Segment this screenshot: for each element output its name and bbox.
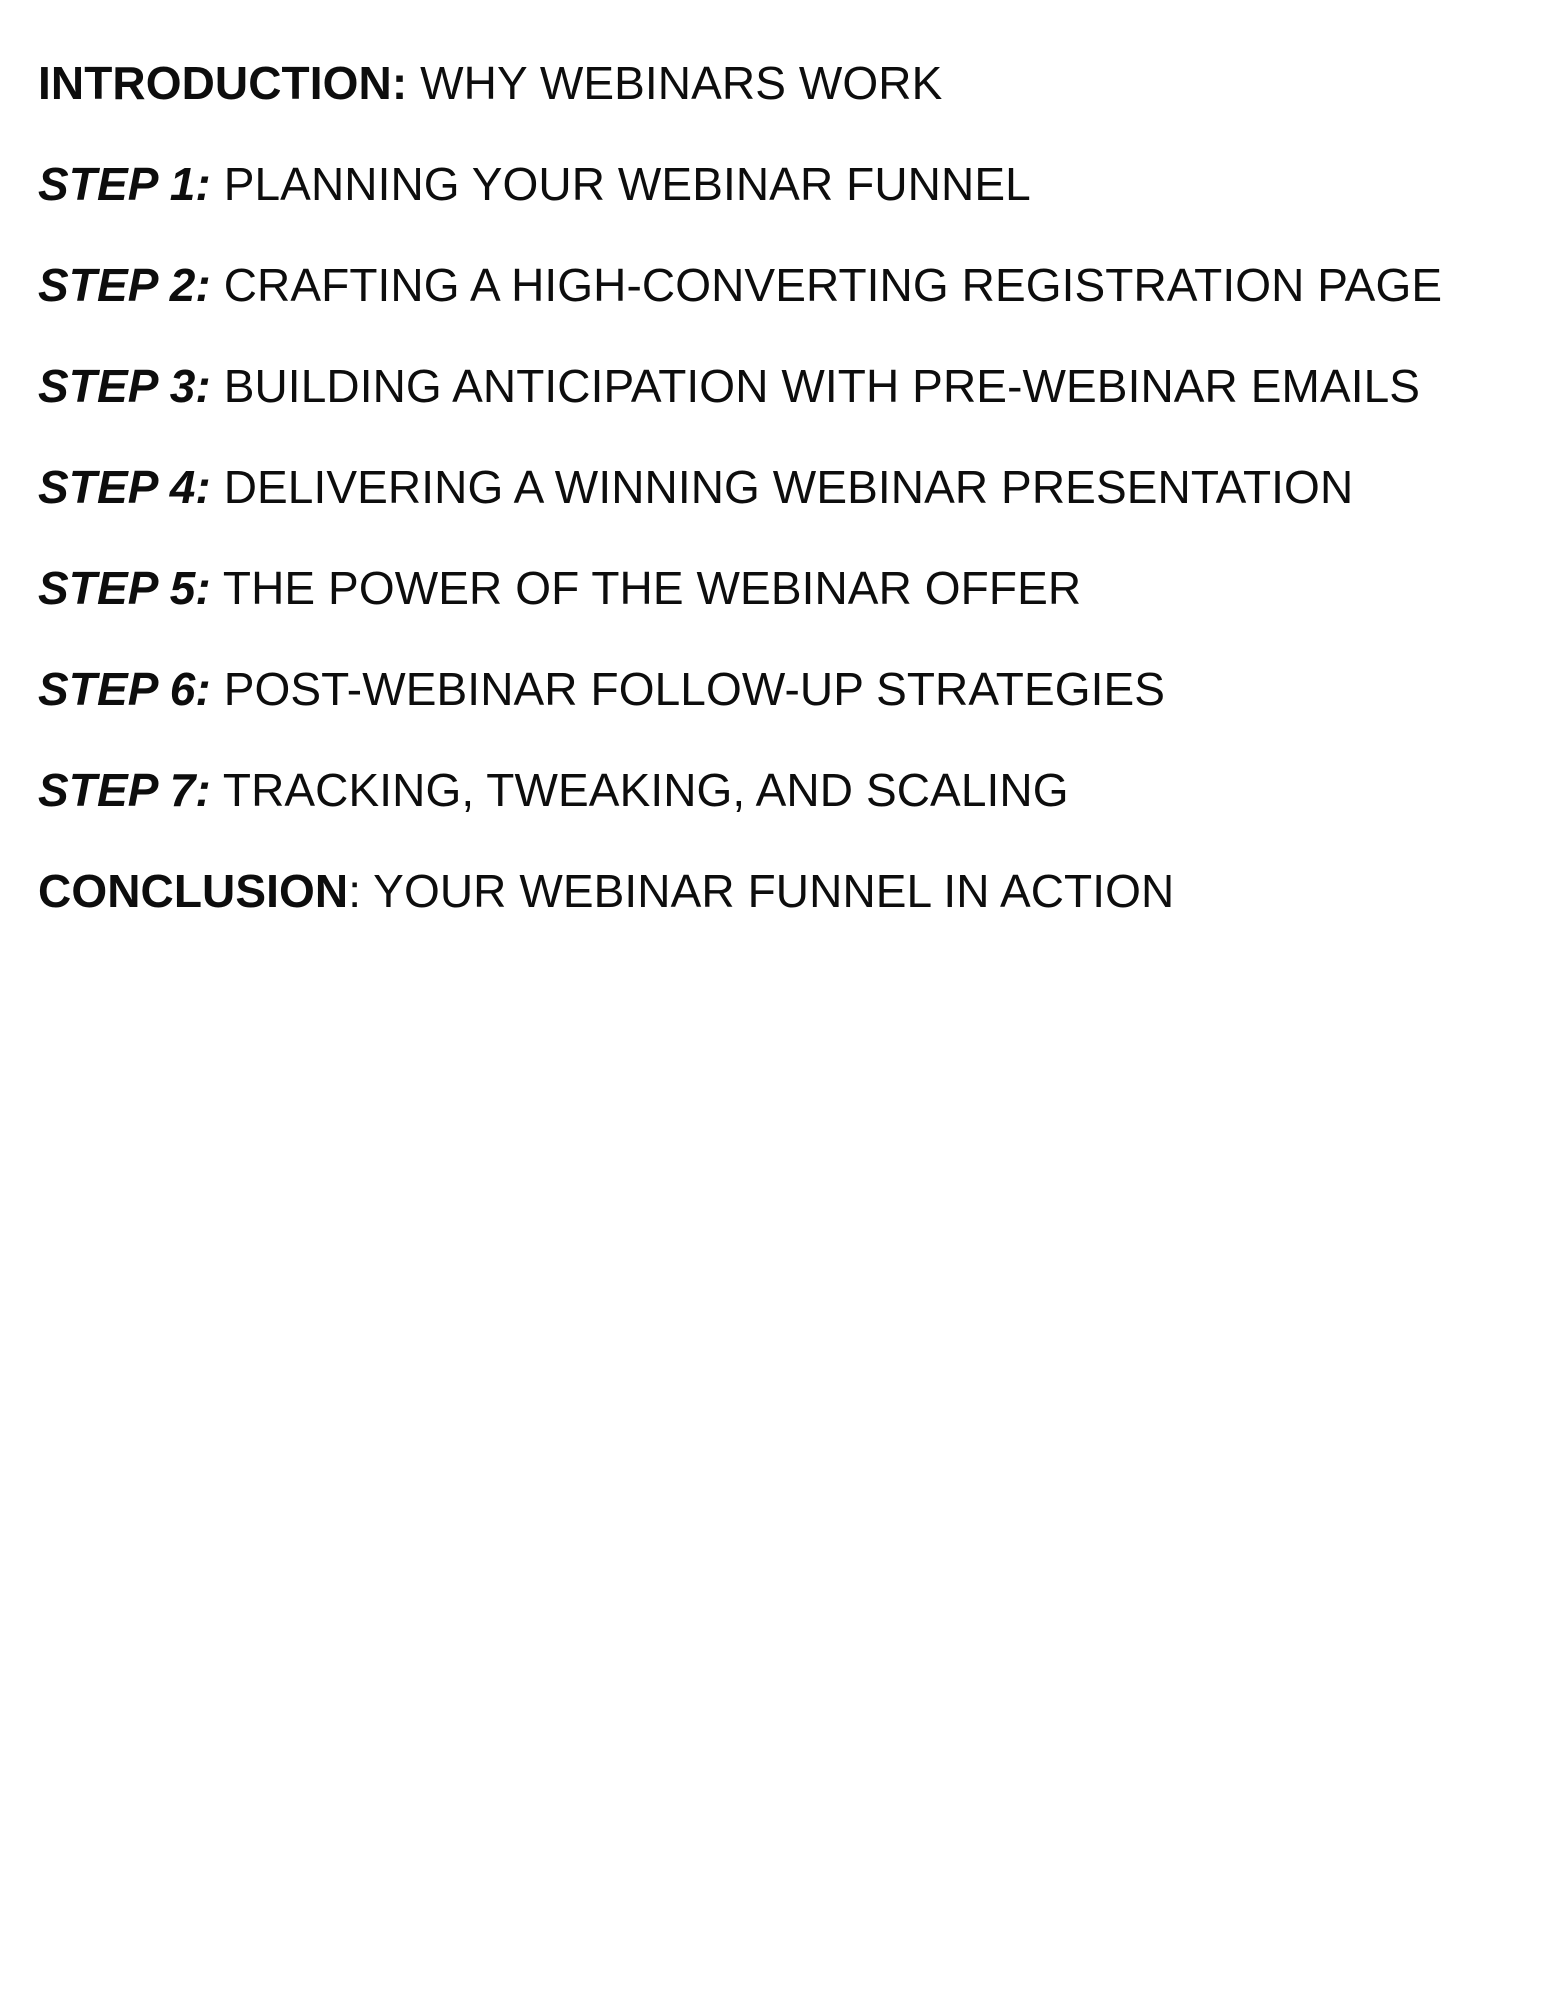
toc-entry-title: : YOUR WEBINAR FUNNEL IN ACTION <box>348 865 1174 917</box>
toc-entry[interactable]: CONCLUSION: YOUR WEBINAR FUNNEL IN ACTIO… <box>38 854 1505 929</box>
toc-entry-prefix: STEP 6: <box>38 663 211 715</box>
toc-entry[interactable]: STEP 2: CRAFTING A HIGH-CONVERTING REGIS… <box>38 248 1505 323</box>
toc-entry-title: DELIVERING A WINNING WEBINAR PRESENTATIO… <box>211 461 1353 513</box>
table-of-contents: INTRODUCTION: WHY WEBINARS WORKSTEP 1: P… <box>38 46 1505 929</box>
toc-entry-title: POST-WEBINAR FOLLOW-UP STRATEGIES <box>211 663 1165 715</box>
toc-entry-title: CRAFTING A HIGH-CONVERTING REGISTRATION … <box>211 259 1442 311</box>
toc-entry-title: WHY WEBINARS WORK <box>407 57 942 109</box>
toc-entry[interactable]: STEP 5: THE POWER OF THE WEBINAR OFFER <box>38 551 1505 626</box>
toc-entry-prefix: CONCLUSION <box>38 865 348 917</box>
toc-entry-title: TRACKING, TWEAKING, AND SCALING <box>211 764 1069 816</box>
toc-entry[interactable]: STEP 1: PLANNING YOUR WEBINAR FUNNEL <box>38 147 1505 222</box>
toc-entry[interactable]: STEP 6: POST-WEBINAR FOLLOW-UP STRATEGIE… <box>38 652 1505 727</box>
toc-entry-title: BUILDING ANTICIPATION WITH PRE-WEBINAR E… <box>211 360 1420 412</box>
toc-entry-prefix: INTRODUCTION: <box>38 57 407 109</box>
toc-entry[interactable]: STEP 4: DELIVERING A WINNING WEBINAR PRE… <box>38 450 1505 525</box>
toc-entry[interactable]: STEP 3: BUILDING ANTICIPATION WITH PRE-W… <box>38 349 1505 424</box>
toc-entry-title: THE POWER OF THE WEBINAR OFFER <box>211 562 1081 614</box>
document-page: INTRODUCTION: WHY WEBINARS WORKSTEP 1: P… <box>0 0 1545 2000</box>
toc-entry-prefix: STEP 5: <box>38 562 211 614</box>
toc-entry-title: PLANNING YOUR WEBINAR FUNNEL <box>211 158 1031 210</box>
toc-entry-prefix: STEP 3: <box>38 360 211 412</box>
toc-entry-prefix: STEP 2: <box>38 259 211 311</box>
toc-entry-prefix: STEP 7: <box>38 764 211 816</box>
toc-entry-prefix: STEP 4: <box>38 461 211 513</box>
toc-entry[interactable]: INTRODUCTION: WHY WEBINARS WORK <box>38 46 1505 121</box>
toc-entry-prefix: STEP 1: <box>38 158 211 210</box>
toc-entry[interactable]: STEP 7: TRACKING, TWEAKING, AND SCALING <box>38 753 1505 828</box>
